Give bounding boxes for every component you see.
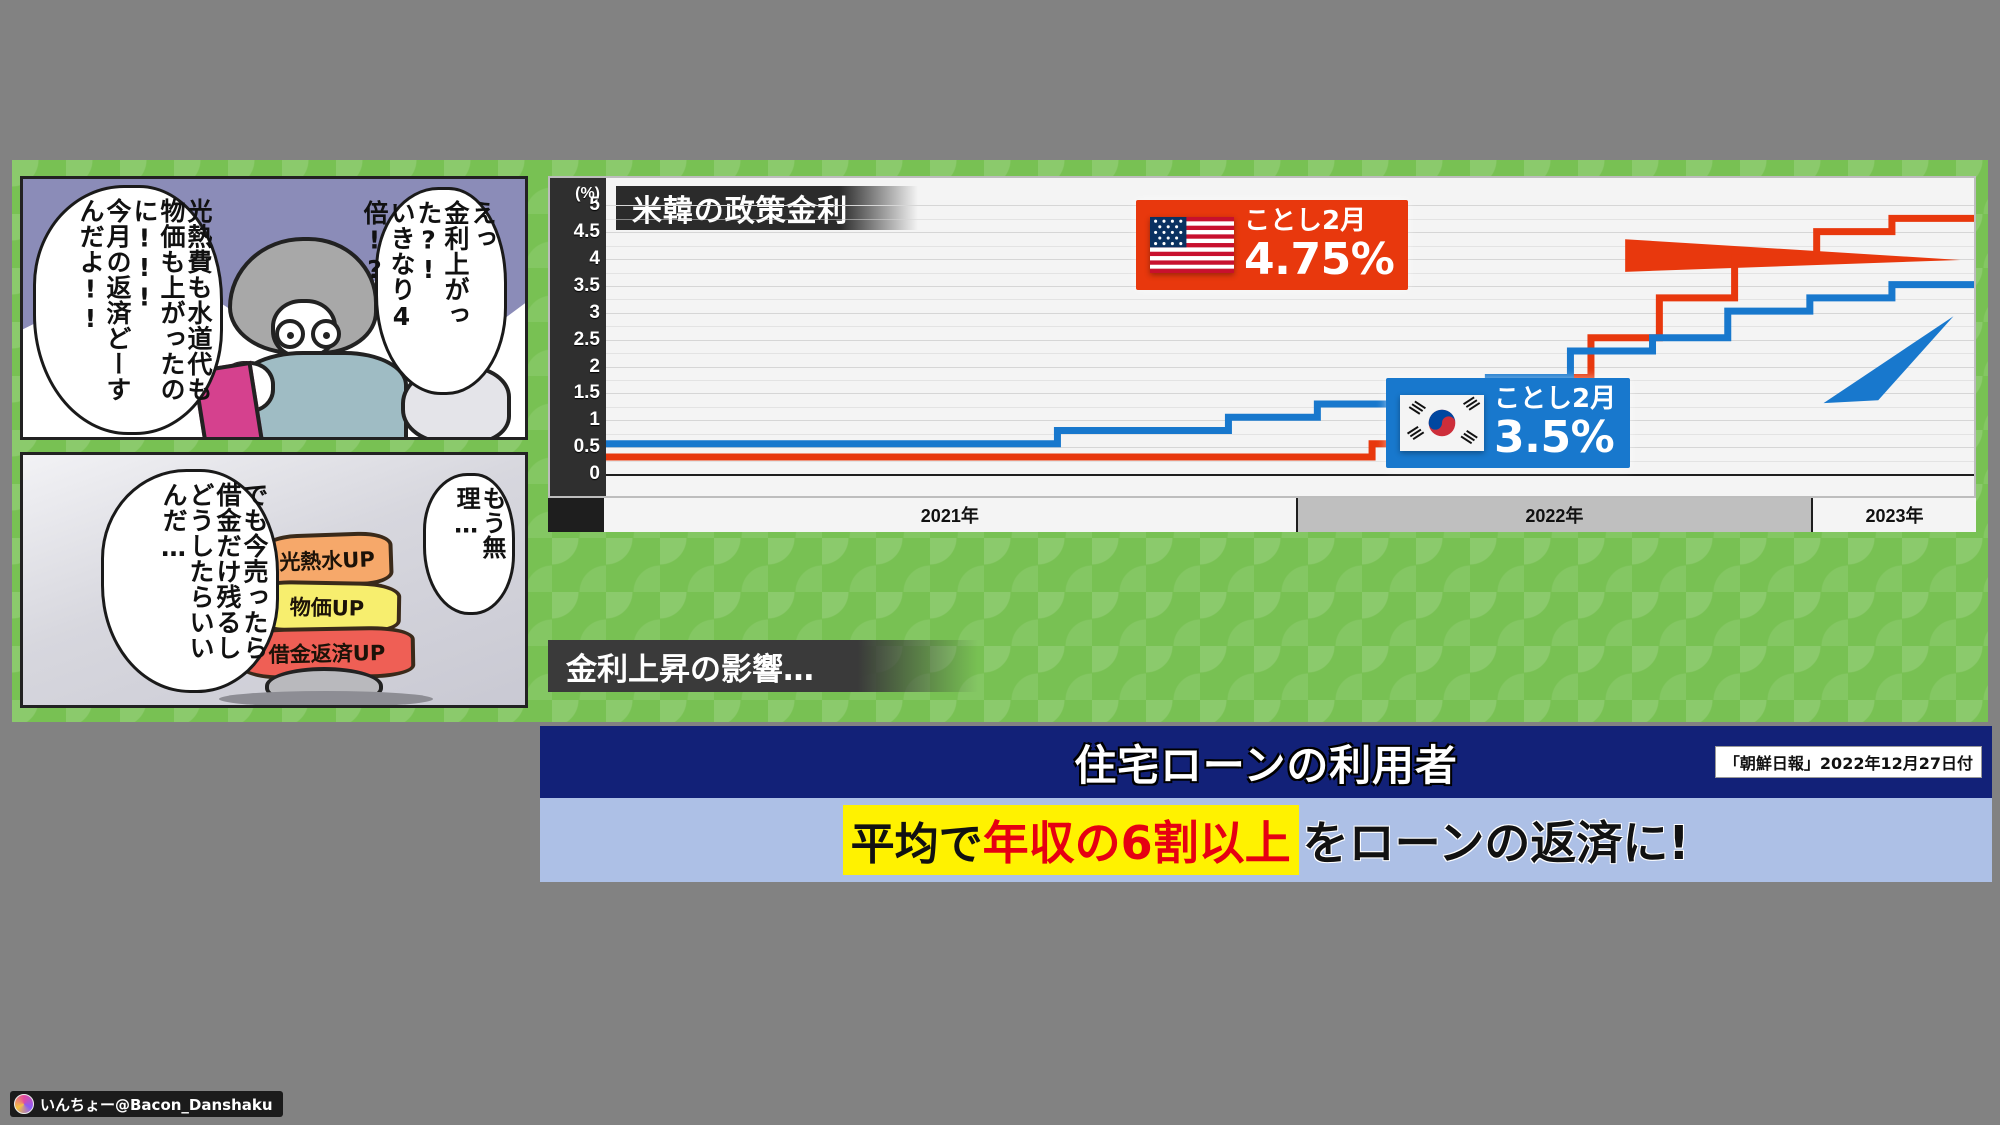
- us-flag-icon: [1150, 217, 1234, 273]
- avatar: [14, 1094, 34, 1114]
- subheadline-suffix: をローンの返済に!: [1303, 807, 1690, 873]
- kr-callout-line1: ことし2月: [1494, 386, 1616, 412]
- stone-bottom-label: 借金返済UP: [269, 637, 386, 669]
- x-axis-band: 2021年: [602, 498, 1296, 532]
- y-axis-tick: 4.5: [574, 221, 600, 243]
- us-callout-text: ことし2月 4.75%: [1244, 208, 1394, 282]
- stone-mid-label: 物価UP: [290, 591, 365, 622]
- panel1-bubble-left: 光熱費も水道代も 物価も上がったのに!!! 今月の返済どーすんだよ!!: [33, 185, 223, 435]
- kr-rate-callout: ことし2月 3.5%: [1386, 378, 1630, 468]
- x-axis-band-label: 2022年: [1525, 502, 1583, 528]
- y-axis-tick: 1.5: [574, 382, 600, 404]
- x-axis-band: 2022年: [1296, 498, 1811, 532]
- kr-callout-text: ことし2月 3.5%: [1494, 386, 1616, 460]
- manga-column: えっ 金利上がった?! いきなり4倍!? 光熱費も水道代も 物価も上がったのに!…: [20, 176, 528, 708]
- chart-y-axis: (%)00.511.522.533.544.55: [550, 178, 606, 496]
- subheadline-emphasis: 年収の6割以上: [983, 807, 1291, 873]
- chart-x-axis: 2021年2022年2023年: [548, 498, 1976, 532]
- chart-plot-area: 米韓の政策金利: [606, 178, 1974, 496]
- impact-banner: 金利上昇の影響…: [548, 640, 978, 692]
- character-pupil-right: [323, 332, 330, 339]
- panel2-bubble-left: でも今売ったら 借金だけ残るし どうしたらいいんだ…: [101, 469, 279, 693]
- us-callout-value: 4.75%: [1244, 238, 1394, 282]
- ground-shadow: [219, 691, 433, 707]
- headline-title: 住宅ローンの利用者: [1074, 732, 1457, 793]
- impact-banner-label: 金利上昇の影響…: [566, 644, 814, 689]
- author-credit-label: いんちょー@Bacon_Danshaku: [40, 1094, 273, 1115]
- panel1-bubble-right: えっ 金利上がった?! いきなり4倍!?: [375, 187, 507, 395]
- x-axis-gutter: [548, 498, 602, 532]
- source-tag: 「朝鮮日報」2022年12月27日付: [1715, 746, 1982, 778]
- subheadline-banner: 平均で 年収の6割以上 をローンの返済に!: [540, 798, 1992, 882]
- character-pupil-left: [287, 332, 294, 339]
- y-axis-tick: 5: [589, 194, 600, 216]
- y-axis-tick: 1: [589, 409, 600, 431]
- kr-flag-icon: [1400, 395, 1484, 451]
- y-axis-tick: 3: [589, 302, 600, 324]
- author-credit: いんちょー@Bacon_Danshaku: [10, 1091, 283, 1117]
- manga-panel-1: えっ 金利上がった?! いきなり4倍!? 光熱費も水道代も 物価も上がったのに!…: [20, 176, 528, 440]
- subheadline-prefix: 平均で: [851, 808, 983, 872]
- y-axis-tick: 2.5: [574, 329, 600, 351]
- us-callout-line1: ことし2月: [1244, 208, 1394, 234]
- kr-callout-value: 3.5%: [1494, 416, 1616, 460]
- kr-callout-tail: [1824, 316, 1954, 403]
- y-axis-tick: 0.5: [574, 436, 600, 458]
- us-rate-callout: ことし2月 4.75%: [1136, 200, 1408, 290]
- y-axis-tick: 0: [589, 463, 600, 485]
- panel2-bubble-right: もう無理…: [423, 473, 515, 615]
- headline-banner: 住宅ローンの利用者 「朝鮮日報」2022年12月27日付: [540, 726, 1992, 798]
- y-axis-tick: 2: [589, 356, 600, 378]
- chart-series-line: [606, 285, 1974, 444]
- policy-rate-chart: (%)00.511.522.533.544.55 米韓の政策金利: [548, 176, 1976, 498]
- manga-panel-2: 光熱水UP 物価UP 借金返済UP でも今売ったら 借金だけ残るし どうしたらい…: [20, 452, 528, 708]
- x-axis-band-label: 2021年: [921, 502, 979, 528]
- x-axis-band: 2023年: [1811, 498, 1976, 532]
- x-axis-band-label: 2023年: [1866, 502, 1924, 528]
- stone-top-label: 光熱水UP: [279, 543, 375, 576]
- y-axis-tick: 4: [589, 248, 600, 270]
- y-axis-tick: 3.5: [574, 275, 600, 297]
- subheadline-highlight: 平均で 年収の6割以上: [843, 805, 1299, 875]
- screenshot-root: えっ 金利上がった?! いきなり4倍!? 光熱費も水道代も 物価も上がったのに!…: [0, 0, 2000, 1125]
